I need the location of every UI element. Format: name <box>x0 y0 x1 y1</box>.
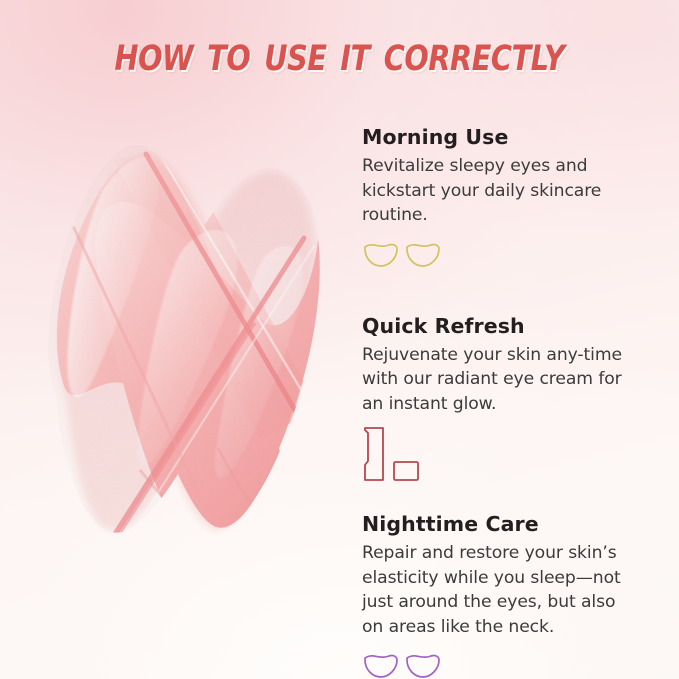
step-title: Quick Refresh <box>362 313 652 339</box>
eye-patch-pair-icon <box>362 646 652 679</box>
product-swatch-image <box>18 118 348 570</box>
poster-canvas: How to Use It Correctly <box>0 0 679 679</box>
step-body: Repair and restore your skin’s elasticit… <box>362 541 630 639</box>
step-morning-use: Morning Use Revitalize sleepy eyes and k… <box>362 124 652 269</box>
eye-patch-pair-icon <box>362 235 652 269</box>
step-nighttime-care: Nighttime Care Repair and restore your s… <box>362 511 652 679</box>
step-quick-refresh: Quick Refresh Rejuvenate your skin any-t… <box>362 313 652 484</box>
steps-column: Morning Use Revitalize sleepy eyes and k… <box>362 118 652 679</box>
page-title: How to Use It Correctly <box>61 24 618 82</box>
step-body: Rejuvenate your skin any-time with our r… <box>362 343 630 417</box>
step-body: Revitalize sleepy eyes and kickstart you… <box>362 154 630 228</box>
step-title: Nighttime Care <box>362 511 652 537</box>
cream-tube-icon <box>362 423 652 483</box>
step-title: Morning Use <box>362 124 652 150</box>
